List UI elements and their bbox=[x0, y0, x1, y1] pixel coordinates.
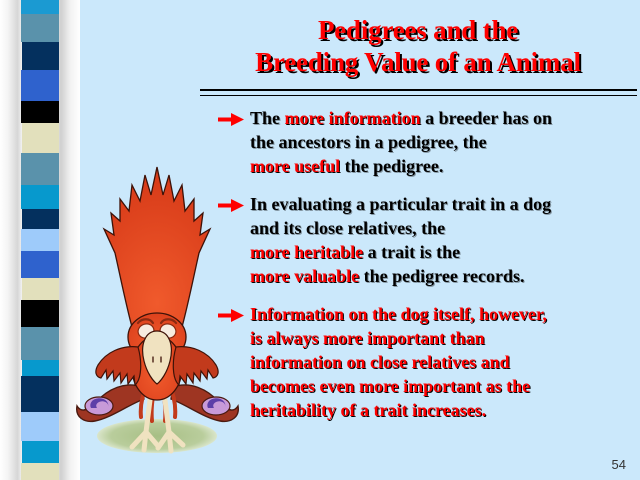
plain-text: and its close relatives, the bbox=[250, 218, 445, 238]
bullet-line: more valuable the pedigree records. bbox=[250, 264, 638, 288]
bird-crest bbox=[104, 167, 210, 327]
bird-wing-right bbox=[173, 347, 218, 385]
plain-text: the ancestors in a pedigree, the bbox=[250, 132, 487, 152]
band-stripe bbox=[21, 463, 59, 480]
bullet-text: Information on the dog itself, however,i… bbox=[250, 302, 638, 422]
bullet-line: The more information a breeder has on bbox=[250, 106, 638, 130]
emphasis-text: more useful bbox=[250, 156, 340, 176]
band-stripe bbox=[21, 0, 59, 14]
bullet-line: and its close relatives, the bbox=[250, 216, 638, 240]
bird-wing-left bbox=[96, 347, 141, 385]
slide-title: Pedigrees and the Breeding Value of an A… bbox=[200, 14, 636, 78]
band-stripe bbox=[21, 376, 59, 412]
band-stripe bbox=[22, 209, 59, 229]
bullet-line: In evaluating a particular trait in a do… bbox=[250, 192, 638, 216]
bullet-line: becomes even more important as the bbox=[250, 374, 638, 398]
title-line-2: Breeding Value of an Animal bbox=[200, 46, 636, 78]
stripe-column bbox=[21, 0, 59, 480]
plain-text: becomes even more important as the bbox=[250, 376, 530, 396]
band-stripe bbox=[22, 360, 59, 376]
band-stripe bbox=[21, 101, 59, 123]
plain-text: The bbox=[250, 108, 285, 128]
bullet-text: In evaluating a particular trait in a do… bbox=[250, 192, 638, 288]
title-line-1: Pedigrees and the bbox=[200, 14, 636, 46]
plain-text: In evaluating a particular trait in a do… bbox=[250, 194, 551, 214]
red-arrow-icon bbox=[218, 199, 244, 212]
red-arrow-icon bbox=[218, 113, 244, 126]
bullet-list: The more information a breeder has onthe… bbox=[218, 106, 638, 436]
bullet-line: Information on the dog itself, however, bbox=[250, 302, 638, 326]
plain-text: the pedigree records. bbox=[359, 266, 524, 286]
band-stripe bbox=[21, 300, 59, 327]
red-arrow-icon bbox=[218, 309, 244, 322]
plain-text: a breeder has on bbox=[421, 108, 552, 128]
band-stripe bbox=[21, 185, 59, 209]
plain-text: the pedigree. bbox=[340, 156, 443, 176]
plain-text: Information on the dog itself, however, bbox=[250, 304, 547, 324]
band-stripe bbox=[22, 123, 59, 153]
emphasis-text: more heritable bbox=[250, 242, 363, 262]
band-stripe bbox=[21, 153, 59, 185]
bullet-line: more heritable a trait is the bbox=[250, 240, 638, 264]
bullet-item: In evaluating a particular trait in a do… bbox=[218, 192, 638, 288]
band-stripe bbox=[21, 229, 59, 251]
plain-text: heritability of a trait increases. bbox=[250, 400, 486, 420]
emphasis-text: more valuable bbox=[250, 266, 359, 286]
band-stripe bbox=[22, 278, 59, 300]
emphasis-text: more information bbox=[285, 108, 421, 128]
band-stripe bbox=[21, 327, 59, 360]
bullet-line: more useful the pedigree. bbox=[250, 154, 638, 178]
slide-canvas: Pedigrees and the Breeding Value of an A… bbox=[0, 0, 640, 480]
band-stripe bbox=[21, 412, 59, 441]
band-stripe bbox=[21, 14, 59, 42]
bullet-text: The more information a breeder has onthe… bbox=[250, 106, 638, 178]
band-stripe bbox=[22, 441, 59, 463]
plain-text: a trait is the bbox=[363, 242, 460, 262]
plain-text: information on close relatives and bbox=[250, 352, 510, 372]
title-underline-rule bbox=[200, 89, 637, 96]
bullet-line: heritability of a trait increases. bbox=[250, 398, 638, 422]
bullet-line: information on close relatives and bbox=[250, 350, 638, 374]
band-stripe bbox=[21, 70, 59, 101]
band-stripe bbox=[22, 42, 59, 70]
plain-text: is always more important than bbox=[250, 328, 485, 348]
band-stripe bbox=[21, 251, 59, 278]
bullet-item: The more information a breeder has onthe… bbox=[218, 106, 638, 178]
left-decorative-band bbox=[0, 0, 80, 480]
bullet-line: the ancestors in a pedigree, the bbox=[250, 130, 638, 154]
bullet-line: is always more important than bbox=[250, 326, 638, 350]
bullet-item: Information on the dog itself, however,i… bbox=[218, 302, 638, 422]
page-number: 54 bbox=[612, 457, 626, 472]
